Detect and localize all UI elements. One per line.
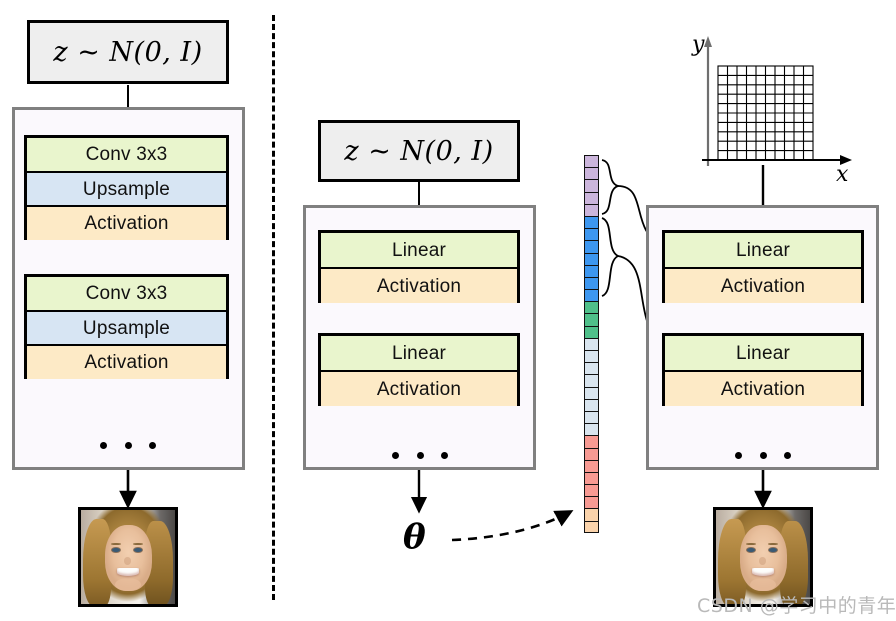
diagram-canvas: z ~ N(0, I) Conv 3x3 Upsample Activation… <box>0 0 896 621</box>
weight-cell <box>584 192 599 204</box>
weight-cell <box>584 374 599 386</box>
layer-label: Upsample <box>83 180 170 199</box>
layer-linear-r1: Linear <box>665 233 861 269</box>
layer-upsample-1: Upsample <box>27 173 226 207</box>
mlp-block-2: Linear Activation <box>662 333 864 406</box>
layer-label: Conv 3x3 <box>86 145 168 164</box>
weight-cell <box>584 179 599 191</box>
layer-label: Linear <box>736 241 790 260</box>
latent-formula-middle: z ~ N(0, I) <box>344 136 493 167</box>
arrow-theta-to-weights <box>452 512 570 540</box>
layer-label: Linear <box>392 344 446 363</box>
layer-upsample-2: Upsample <box>27 312 226 346</box>
grid-cells <box>718 66 813 160</box>
weight-cell <box>584 472 599 484</box>
weight-cell <box>584 155 599 167</box>
layer-label: Linear <box>392 241 446 260</box>
weight-cell <box>584 338 599 350</box>
brace-lower <box>602 218 618 296</box>
weight-cell <box>584 423 599 435</box>
layer-label: Activation <box>721 277 805 296</box>
layer-label: Activation <box>377 380 461 399</box>
csdn-watermark: CSDN @学习中的青年 <box>697 591 896 618</box>
weight-cell <box>584 496 599 508</box>
layer-conv-1: Conv 3x3 <box>27 138 226 173</box>
weight-cell <box>584 484 599 496</box>
latent-box-left: z ~ N(0, I) <box>27 20 229 84</box>
weight-cell <box>584 521 599 533</box>
weight-cell <box>584 411 599 423</box>
column-divider <box>272 15 275 600</box>
conv-block-2: Conv 3x3 Upsample Activation <box>24 274 229 379</box>
weight-cell <box>584 326 599 338</box>
hyper-block-2: Linear Activation <box>318 333 520 406</box>
layer-activation-2: Activation <box>27 346 226 379</box>
weight-cell <box>584 216 599 228</box>
weight-cell <box>584 399 599 411</box>
weight-vector-strip <box>584 155 599 533</box>
weight-cell <box>584 253 599 265</box>
latent-formula-left: z ~ N(0, I) <box>53 37 202 68</box>
weight-cell <box>584 508 599 520</box>
hyper-block-1: Linear Activation <box>318 230 520 303</box>
weight-cell <box>584 460 599 472</box>
weight-cell <box>584 313 599 325</box>
weight-cell <box>584 362 599 374</box>
conv-block-1: Conv 3x3 Upsample Activation <box>24 135 229 240</box>
weight-cell <box>584 204 599 216</box>
layer-activation-r2: Activation <box>665 372 861 406</box>
theta-symbol: θ <box>403 517 426 557</box>
layer-label: Activation <box>84 353 168 372</box>
layer-label: Activation <box>84 214 168 233</box>
weight-cell <box>584 167 599 179</box>
weight-cell <box>584 350 599 362</box>
weight-cell <box>584 240 599 252</box>
layer-activation-h2: Activation <box>321 372 517 406</box>
brace-upper <box>602 160 618 214</box>
mlp-block-1: Linear Activation <box>662 230 864 303</box>
layer-linear-h2: Linear <box>321 336 517 372</box>
weight-cell <box>584 448 599 460</box>
layer-conv-2: Conv 3x3 <box>27 277 226 312</box>
layer-linear-h1: Linear <box>321 233 517 269</box>
x-axis-label: x <box>836 162 848 187</box>
layer-activation-r1: Activation <box>665 269 861 303</box>
weight-cell <box>584 277 599 289</box>
layer-activation-1: Activation <box>27 207 226 240</box>
layer-label: Activation <box>721 380 805 399</box>
latent-box-middle: z ~ N(0, I) <box>318 120 520 182</box>
layer-label: Conv 3x3 <box>86 284 168 303</box>
layer-label: Linear <box>736 344 790 363</box>
weight-cell <box>584 387 599 399</box>
weight-cell <box>584 289 599 301</box>
weight-cell <box>584 435 599 447</box>
weight-cell <box>584 228 599 240</box>
layer-label: Upsample <box>83 319 170 338</box>
layer-linear-r2: Linear <box>665 336 861 372</box>
y-axis-label: y <box>692 32 704 57</box>
weight-cell <box>584 301 599 313</box>
grid-axes <box>702 36 852 166</box>
weight-cell <box>584 265 599 277</box>
output-face-left <box>78 507 178 607</box>
layer-activation-h1: Activation <box>321 269 517 303</box>
layer-label: Activation <box>377 277 461 296</box>
